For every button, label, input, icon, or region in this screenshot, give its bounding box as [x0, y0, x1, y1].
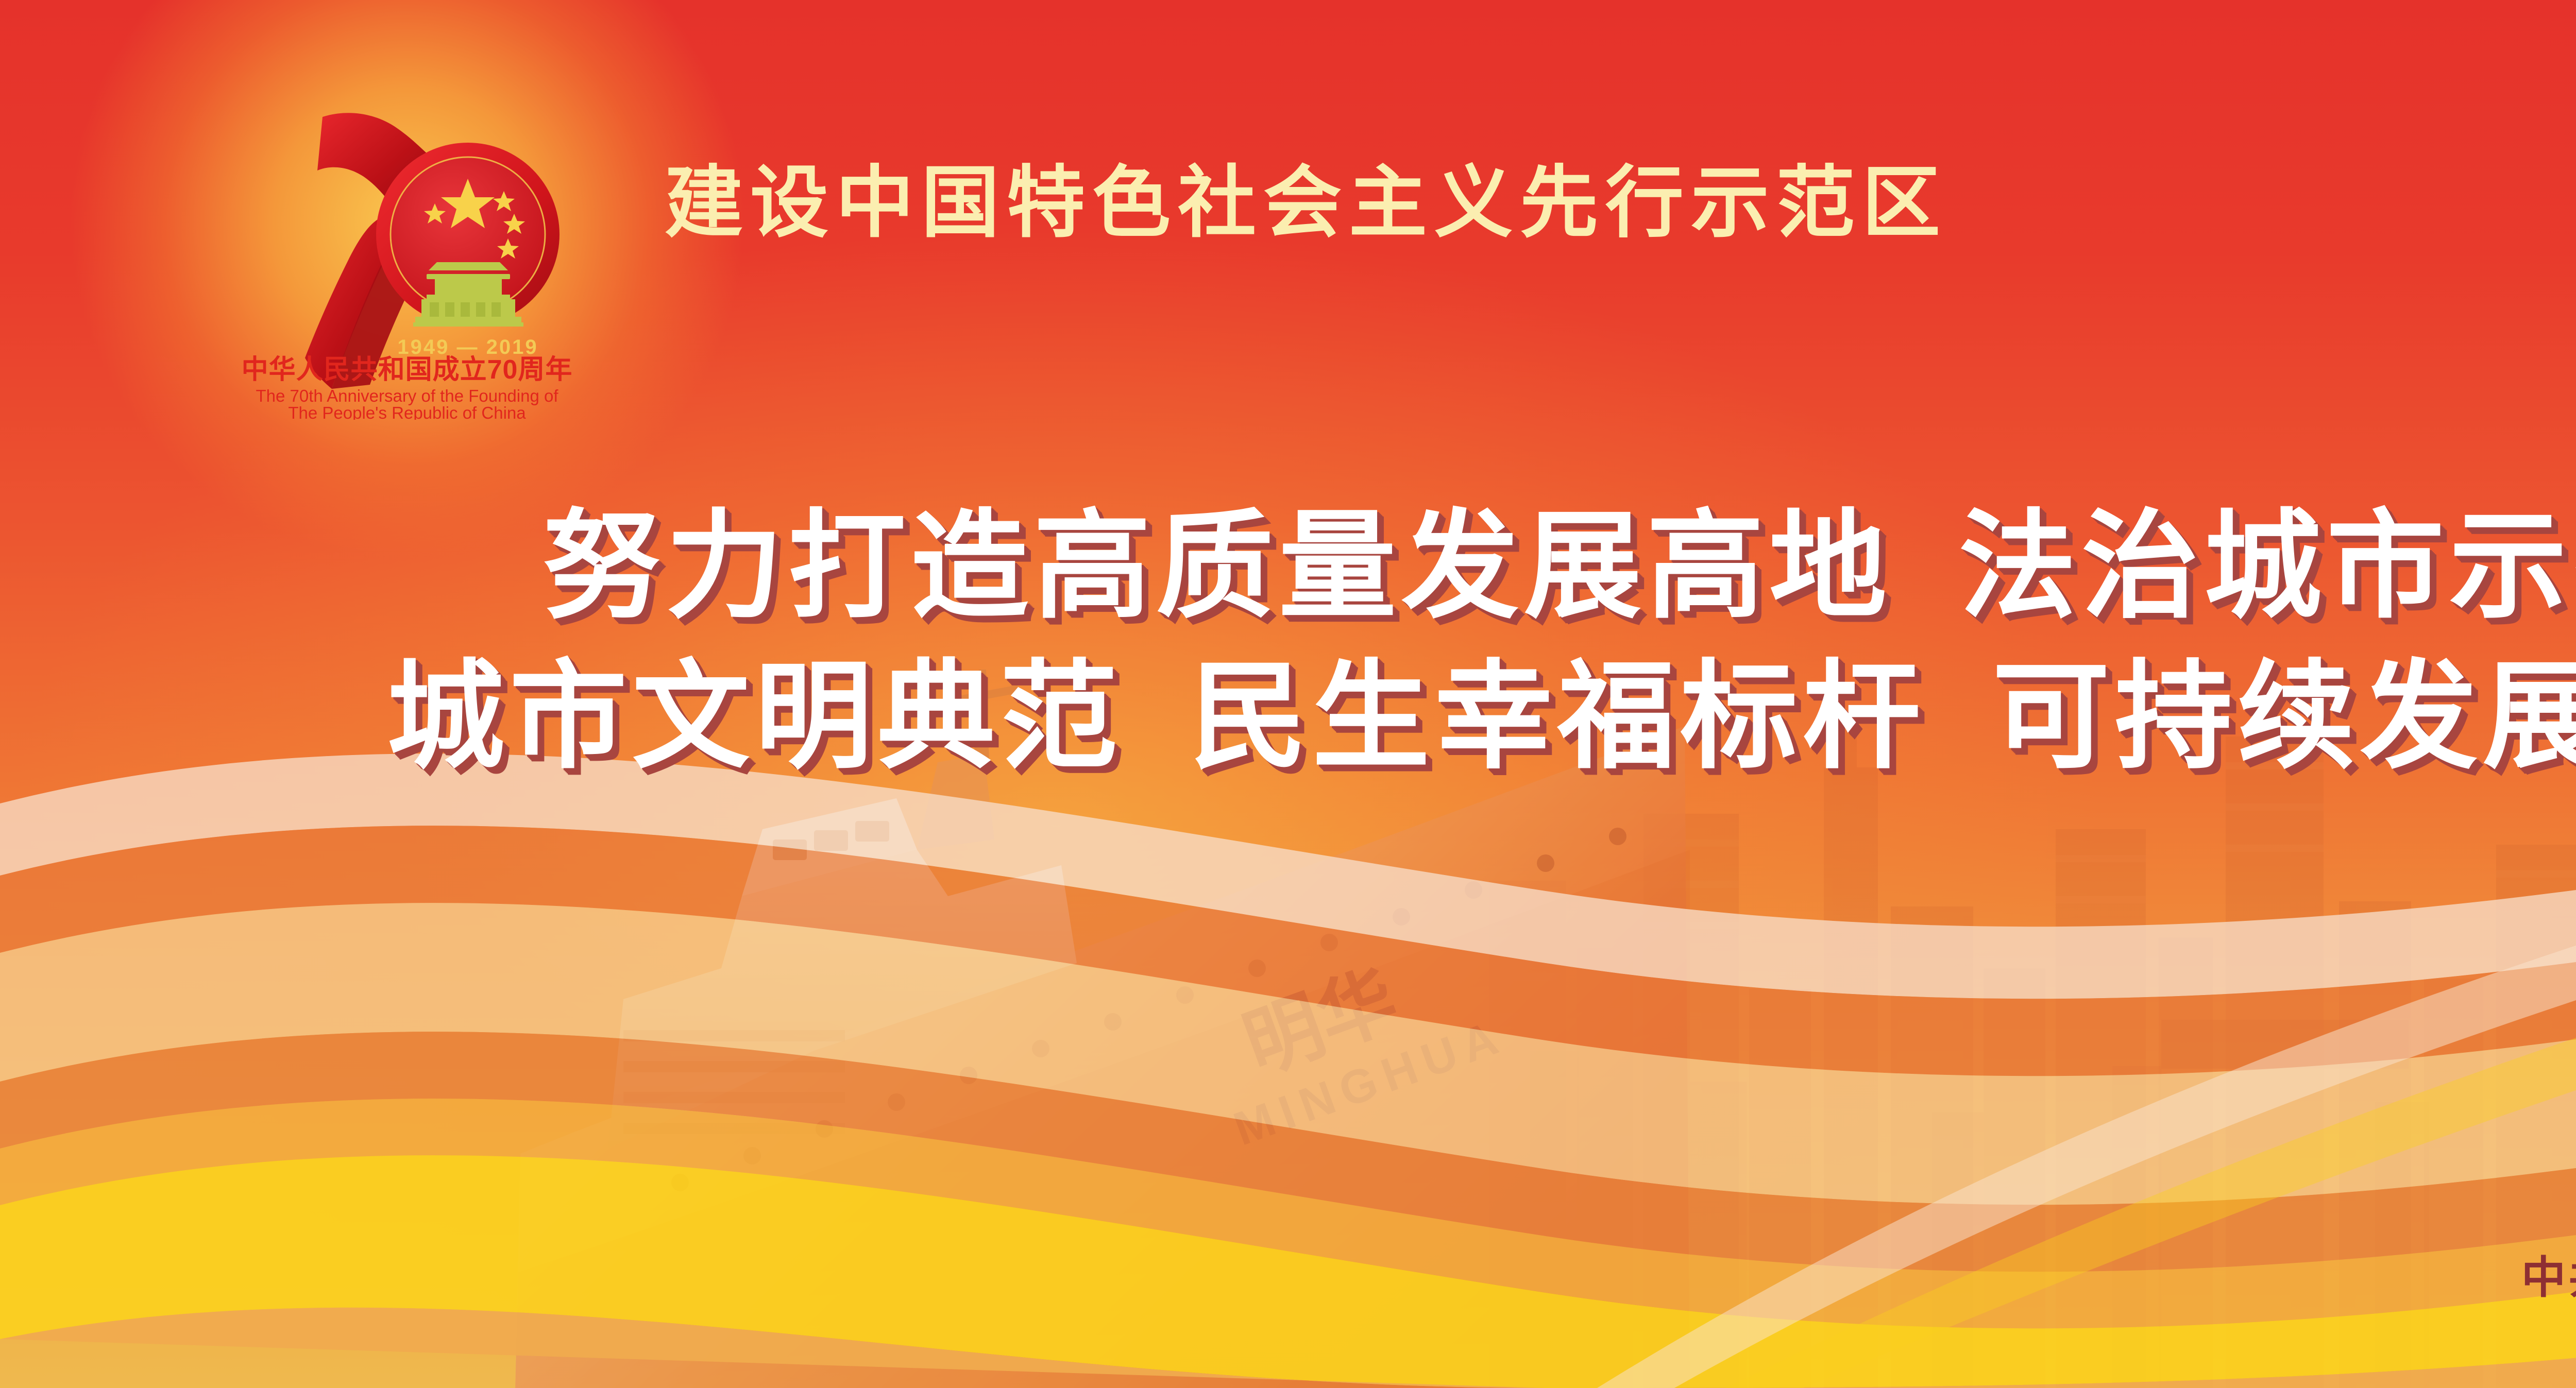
- slogan-phrase: 可持续发展先锋: [1992, 652, 2576, 782]
- slogan-line-1: 努力打造高质量发展高地法治城市示范: [0, 492, 2576, 642]
- slogan-phrase: 努力打造高质量发展高地: [543, 501, 1892, 632]
- banner-slogan: 努力打造高质量发展高地法治城市示范 城市文明典范民生幸福标杆可持续发展先锋: [0, 492, 2576, 793]
- attribution-organization: 中共深圳市委宣传部: [2521, 1253, 2576, 1303]
- banner-headline: 建设中国特色社会主义先行示范区: [665, 164, 1947, 242]
- slogan-line-2: 城市文明典范民生幸福标杆可持续发展先锋: [0, 642, 2576, 793]
- 70th-anniversary-emblem: 1949 — 2019 中华人民共和国成立70周年 The 70th Anniv…: [222, 49, 592, 420]
- emblem-title-cn: 中华人民共和国成立70周年: [242, 355, 573, 385]
- slogan-phrase: 城市文明典范: [387, 652, 1123, 782]
- emblem-title-en-line1: The 70th Anniversary of the Founding of: [256, 386, 558, 405]
- banner-attribution: 中共深圳市委宣传部监制: [2521, 1241, 2576, 1306]
- slogan-phrase: 民生幸福标杆: [1190, 652, 1925, 782]
- emblem-title-en-line2: The People's Republic of China: [288, 403, 526, 420]
- propaganda-banner: 明华 MINGHUA: [0, 0, 2576, 1388]
- slogan-phrase: 法治城市示范: [1959, 501, 2576, 632]
